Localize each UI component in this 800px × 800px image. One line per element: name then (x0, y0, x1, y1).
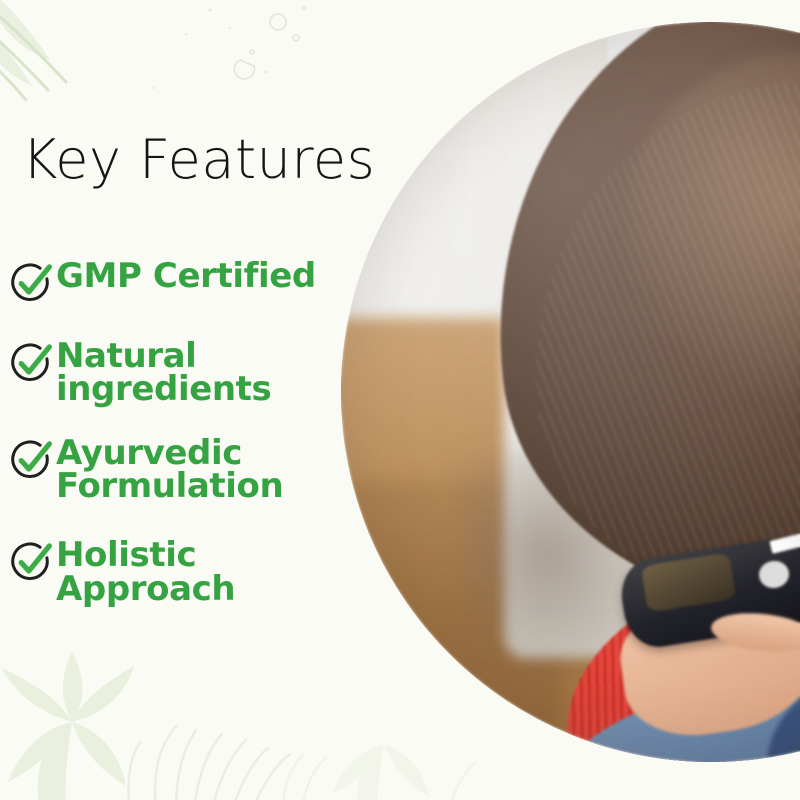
circle-check-icon (8, 437, 54, 483)
page-title: Key Features (22, 128, 375, 191)
feature-label: Ayurvedic Formulation (56, 435, 283, 504)
feature-label-line2: ingredients (56, 373, 271, 406)
circle-check-icon (8, 260, 54, 306)
woman-using-glucose-meter-photo (341, 22, 800, 762)
circle-check-icon (8, 539, 54, 585)
key-features-banner: Key Features GMP Certified Natural ingre… (0, 0, 800, 800)
feature-label: Natural ingredients (56, 338, 271, 407)
feature-item-natural-ingredients: Natural ingredients (8, 338, 338, 407)
feature-label: GMP Certified (56, 258, 316, 293)
feature-item-holistic-approach: Holistic Approach (8, 537, 338, 606)
watercolor-leaves-bottom-left-icon (0, 630, 340, 800)
feature-label-line2: Approach (56, 573, 235, 606)
feature-label-line2: Formulation (56, 470, 283, 503)
feature-label: Holistic Approach (56, 537, 235, 606)
feature-item-ayurvedic-formulation: Ayurvedic Formulation (8, 435, 338, 504)
feature-list: GMP Certified Natural ingredients Ayurve… (8, 258, 338, 628)
feature-item-gmp-certified: GMP Certified (8, 258, 338, 306)
circle-check-icon (8, 340, 54, 386)
feature-label-line1: GMP Certified (56, 256, 316, 296)
